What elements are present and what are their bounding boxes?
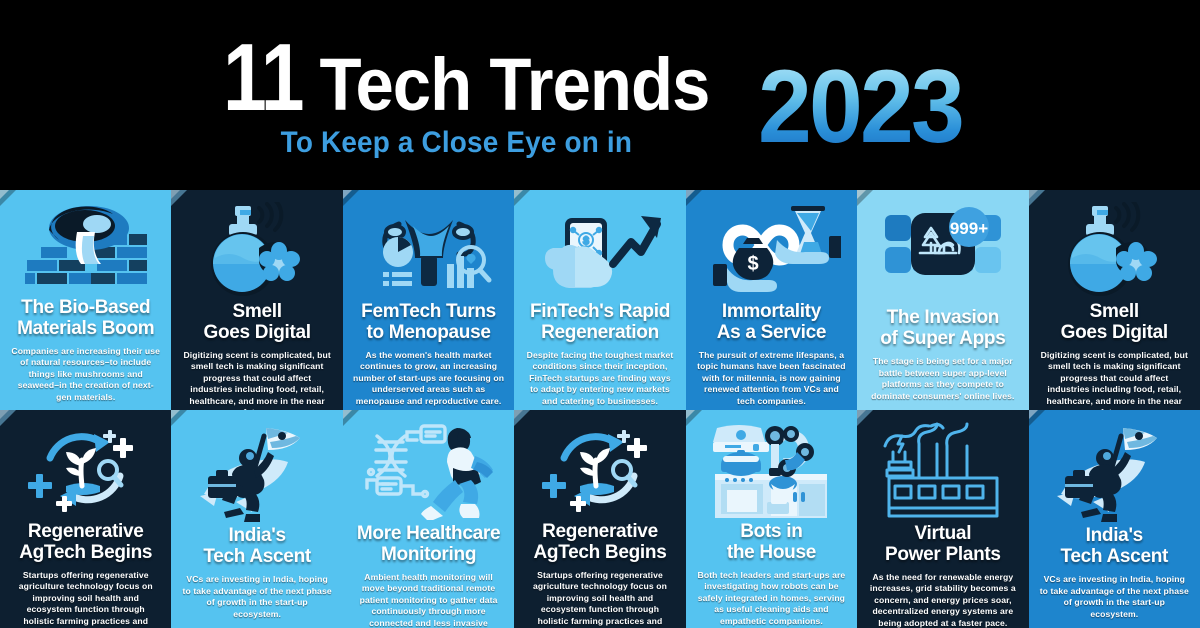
svg-text:999+: 999+ bbox=[950, 219, 988, 238]
svg-text:$: $ bbox=[748, 253, 759, 275]
trend-card-title: The Invasionof Super Apps bbox=[880, 308, 1005, 349]
runner-dna-icon bbox=[353, 422, 504, 520]
trend-card-description: The pursuit of extreme lifespans, a topi… bbox=[696, 350, 847, 407]
trend-card-2[interactable]: SmellGoes DigitalDigitizing scent is com… bbox=[171, 190, 342, 410]
trend-card-description: Despite facing the toughest market condi… bbox=[524, 350, 675, 407]
card-fold-corner bbox=[514, 410, 523, 419]
trend-card-description: VCs are investing in India, hoping to ta… bbox=[1039, 574, 1190, 620]
trend-card-grid: The Bio-BasedMaterials BoomCompanies are… bbox=[0, 190, 1200, 628]
rocket-flag-businessman-icon bbox=[1039, 422, 1190, 522]
trend-card-title-line1: India's bbox=[203, 526, 311, 547]
trend-card-title-line1: Virtual bbox=[885, 524, 1001, 545]
trend-card-title-line1: India's bbox=[1060, 526, 1168, 547]
trend-card-14[interactable]: India'sTech AscentVCs are investing in I… bbox=[1029, 410, 1200, 628]
card-fold-corner bbox=[514, 190, 523, 199]
title-wrap: 11 Tech Trends To Keep a Close Eye on in… bbox=[223, 32, 977, 157]
trend-card-title-line2: Tech Ascent bbox=[203, 547, 311, 568]
trend-card-1[interactable]: The Bio-BasedMaterials BoomCompanies are… bbox=[0, 190, 171, 410]
trend-card-title-line2: Goes Digital bbox=[1061, 323, 1168, 344]
page-title: Tech Trends bbox=[312, 48, 710, 122]
trend-card-title-line1: FinTech's Rapid bbox=[530, 302, 670, 323]
trend-card-5[interactable]: $ ImmortalityAs a ServiceThe pursuit of … bbox=[686, 190, 857, 410]
trend-card-title-line2: Tech Ascent bbox=[1060, 547, 1168, 568]
trend-card-description: Digitizing scent is complicated, but sme… bbox=[1039, 350, 1190, 410]
trend-card-title: More HealthcareMonitoring bbox=[357, 524, 500, 565]
trend-card-title: India'sTech Ascent bbox=[1060, 526, 1168, 567]
trend-card-description: Companies are increasing their use of na… bbox=[10, 346, 161, 403]
trend-card-title-line2: Regeneration bbox=[530, 323, 670, 344]
trend-card-title: SmellGoes Digital bbox=[1061, 302, 1168, 343]
super-app-badge-icon: 999+ bbox=[867, 202, 1018, 304]
trend-card-description: Startups offering regenerative agricultu… bbox=[524, 570, 675, 628]
infographic-page: 11 Tech Trends To Keep a Close Eye on in… bbox=[0, 0, 1200, 628]
trend-card-description: Startups offering regenerative agricultu… bbox=[10, 570, 161, 628]
trend-card-title-line1: Smell bbox=[204, 302, 311, 323]
sprout-cycle-icon bbox=[10, 422, 161, 518]
trend-card-title-line1: Immortality bbox=[717, 302, 826, 323]
perfume-bottle-icon bbox=[181, 202, 332, 298]
trend-card-13[interactable]: VirtualPower PlantsAs the need for renew… bbox=[857, 410, 1028, 628]
trend-card-title-line2: AgTech Begins bbox=[533, 543, 666, 564]
trend-card-title-line2: of Super Apps bbox=[880, 329, 1005, 350]
trend-card-6[interactable]: 999+ The Invasionof Super AppsThe stage … bbox=[857, 190, 1028, 410]
trend-card-title-line2: AgTech Begins bbox=[19, 543, 152, 564]
trend-card-3[interactable]: FemTech Turnsto MenopauseAs the women's … bbox=[343, 190, 514, 410]
trend-card-title-line1: The Invasion bbox=[880, 308, 1005, 329]
trend-card-description: Digitizing scent is complicated, but sme… bbox=[181, 350, 332, 410]
infinity-hourglass-moneybag-icon: $ bbox=[696, 202, 847, 298]
trend-card-description: Both tech leaders and start-ups are inve… bbox=[696, 570, 847, 627]
svg-text:$: $ bbox=[583, 236, 589, 247]
trend-card-title-line1: Regenerative bbox=[19, 522, 152, 543]
rocket-flag-businessman-icon bbox=[181, 422, 332, 522]
trend-card-title-line1: More Healthcare bbox=[357, 524, 500, 545]
phone-hand-growth-icon: $ $ bbox=[524, 202, 675, 298]
trend-card-title: ImmortalityAs a Service bbox=[717, 302, 826, 343]
uterus-chart-icon bbox=[353, 202, 504, 298]
trend-card-title-line2: to Menopause bbox=[361, 323, 496, 344]
trend-count: 11 bbox=[223, 32, 303, 123]
trend-card-description: The stage is being set for a major battl… bbox=[867, 356, 1018, 402]
trend-card-title-line2: Goes Digital bbox=[204, 323, 311, 344]
sprout-cycle-icon bbox=[524, 422, 675, 518]
title-row: 11 Tech Trends bbox=[223, 32, 740, 123]
perfume-bottle-icon bbox=[1039, 202, 1190, 298]
trend-card-title: Bots inthe House bbox=[727, 522, 816, 563]
trend-card-title: India'sTech Ascent bbox=[203, 526, 311, 567]
power-plant-icon bbox=[867, 422, 1018, 520]
trend-card-title: The Bio-BasedMaterials Boom bbox=[17, 298, 154, 339]
trend-card-title-line2: the House bbox=[727, 543, 816, 564]
trend-card-title: SmellGoes Digital bbox=[204, 302, 311, 343]
card-fold-corner bbox=[0, 190, 9, 199]
trend-card-11[interactable]: RegenerativeAgTech BeginsStartups offeri… bbox=[514, 410, 685, 628]
card-fold-corner bbox=[686, 410, 695, 419]
kitchen-robot-arm-icon bbox=[696, 422, 847, 518]
trend-card-description: As the women's health market continues t… bbox=[353, 350, 504, 407]
trend-card-title-line2: Monitoring bbox=[357, 545, 500, 566]
card-fold-corner bbox=[686, 190, 695, 199]
trend-card-title-line1: FemTech Turns bbox=[361, 302, 496, 323]
trend-card-8[interactable]: RegenerativeAgTech BeginsStartups offeri… bbox=[0, 410, 171, 628]
trend-card-description: As the need for renewable energy increas… bbox=[867, 572, 1018, 628]
trend-card-12[interactable]: Bots inthe HouseBoth tech leaders and st… bbox=[686, 410, 857, 628]
header-banner: 11 Tech Trends To Keep a Close Eye on in… bbox=[0, 0, 1200, 190]
trend-card-title-line1: Regenerative bbox=[533, 522, 666, 543]
trend-card-title-line1: Smell bbox=[1061, 302, 1168, 323]
trend-card-title: RegenerativeAgTech Begins bbox=[19, 522, 152, 563]
trend-card-9[interactable]: India'sTech AscentVCs are investing in I… bbox=[171, 410, 342, 628]
trend-card-title: RegenerativeAgTech Begins bbox=[533, 522, 666, 563]
card-fold-corner bbox=[343, 410, 352, 419]
card-fold-corner bbox=[1029, 190, 1038, 199]
trend-card-10[interactable]: More HealthcareMonitoringAmbient health … bbox=[343, 410, 514, 628]
trend-card-title-line1: The Bio-Based bbox=[17, 298, 154, 319]
card-fold-corner bbox=[1029, 410, 1038, 419]
trend-card-description: Ambient health monitoring will move beyo… bbox=[353, 572, 504, 628]
trend-card-title-line2: As a Service bbox=[717, 323, 826, 344]
title-left-block: 11 Tech Trends To Keep a Close Eye on in bbox=[223, 32, 740, 157]
trend-card-description: VCs are investing in India, hoping to ta… bbox=[181, 574, 332, 620]
page-subtitle: To Keep a Close Eye on in bbox=[223, 128, 632, 158]
trend-card-4[interactable]: $ $ FinTech's RapidRegenerationDespite f… bbox=[514, 190, 685, 410]
trend-card-7[interactable]: SmellGoes DigitalDigitizing scent is com… bbox=[1029, 190, 1200, 410]
card-fold-corner bbox=[857, 410, 866, 419]
trend-card-title: FinTech's RapidRegeneration bbox=[530, 302, 670, 343]
mushroom-bricks-icon bbox=[10, 202, 161, 294]
trend-card-title-line1: Bots in bbox=[727, 522, 816, 543]
card-fold-corner bbox=[0, 410, 9, 419]
trend-card-title-line2: Materials Boom bbox=[17, 319, 154, 340]
card-fold-corner bbox=[171, 410, 180, 419]
card-fold-corner bbox=[857, 190, 866, 199]
year-label: 2023 bbox=[758, 60, 962, 158]
trend-card-title: VirtualPower Plants bbox=[885, 524, 1001, 565]
trend-card-title: FemTech Turnsto Menopause bbox=[361, 302, 496, 343]
card-fold-corner bbox=[171, 190, 180, 199]
card-fold-corner bbox=[343, 190, 352, 199]
trend-card-title-line2: Power Plants bbox=[885, 545, 1001, 566]
